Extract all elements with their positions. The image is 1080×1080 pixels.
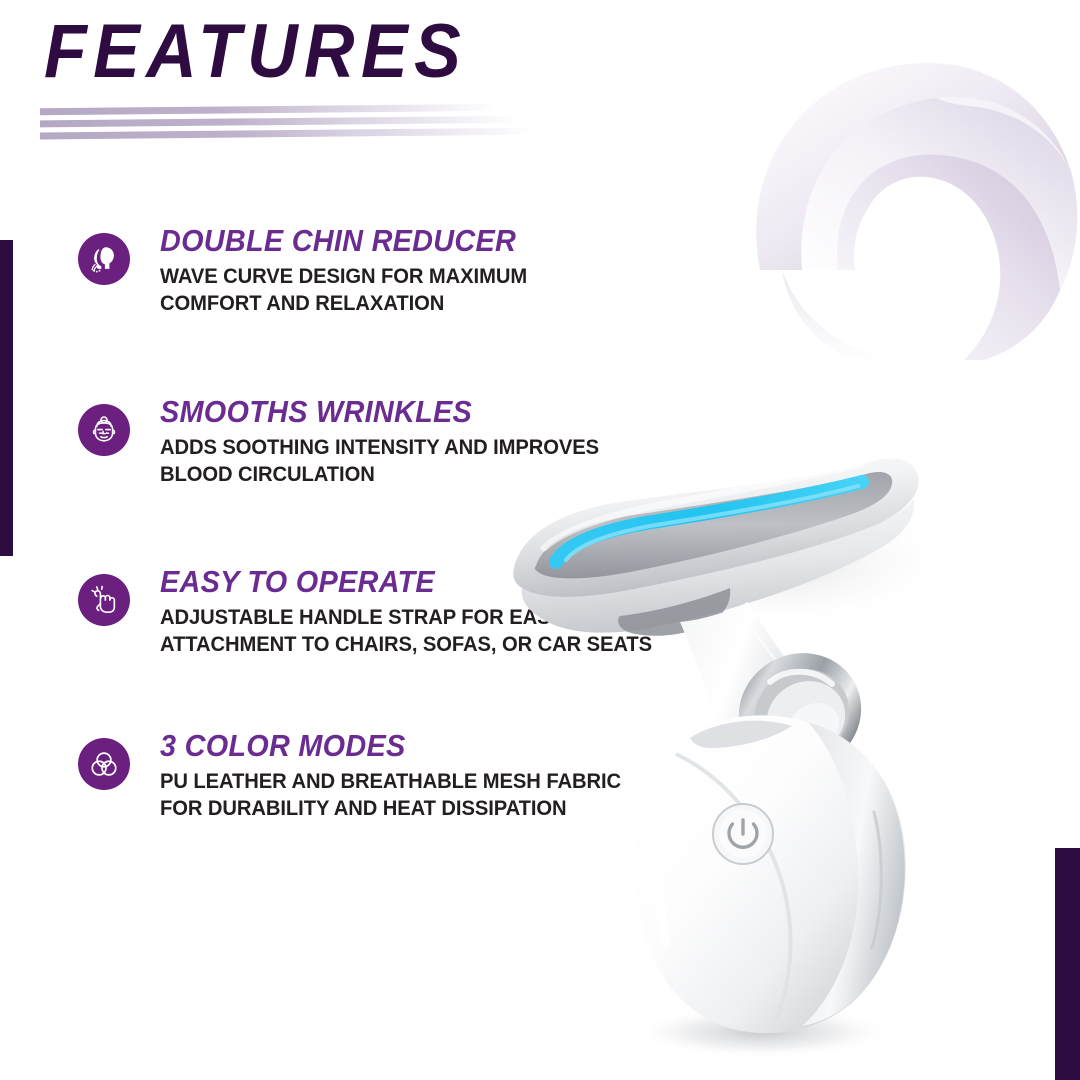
face-chin-profile-icon	[78, 233, 130, 285]
feature-heading: SMOOTHS WRINKLES	[160, 396, 662, 429]
feature-text-block: SMOOTHS WRINKLES ADDS SOOTHING INTENSITY…	[160, 396, 700, 487]
title-rule-2	[40, 116, 535, 128]
title-underline-rules	[40, 106, 560, 142]
tapping-hand-icon	[78, 574, 130, 626]
feature-heading: EASY TO OPERATE	[160, 566, 662, 599]
feature-heading: DOUBLE CHIN REDUCER	[160, 225, 662, 258]
lavender-ribbon-swirl	[690, 0, 1080, 360]
title-rule-3	[40, 128, 550, 140]
page-title: FEATURES	[44, 14, 467, 90]
left-accent-bar	[0, 240, 13, 556]
feature-heading: 3 COLOR MODES	[160, 730, 662, 763]
power-button[interactable]	[713, 804, 773, 864]
three-overlapping-circles-icon	[78, 738, 130, 790]
wrinkled-face-icon	[78, 404, 130, 456]
right-accent-bar	[1055, 848, 1080, 1080]
feature-text-block: 3 COLOR MODES PU LEATHER AND BREATHABLE …	[160, 730, 700, 821]
feature-body: PU LEATHER AND BREATHABLE MESH FABRIC FO…	[160, 768, 668, 821]
feature-text-block: DOUBLE CHIN REDUCER WAVE CURVE DESIGN FO…	[160, 225, 700, 316]
chrome-pivot-joint	[718, 632, 882, 793]
title-rule-1	[40, 104, 510, 116]
cyan-led-light-strip	[556, 482, 862, 562]
feature-body: ADJUSTABLE HANDLE STRAP FOR EASY ATTACHM…	[160, 604, 668, 657]
feature-body: WAVE CURVE DESIGN FOR MAXIMUM COMFORT AN…	[160, 263, 668, 316]
features-infographic: FEATURES DOUBLE CHIN REDUCER WAVE CURVE …	[0, 0, 1080, 1080]
feature-body: ADDS SOOTHING INTENSITY AND IMPROVES BLO…	[160, 434, 668, 487]
feature-text-block: EASY TO OPERATE ADJUSTABLE HANDLE STRAP …	[160, 566, 700, 657]
